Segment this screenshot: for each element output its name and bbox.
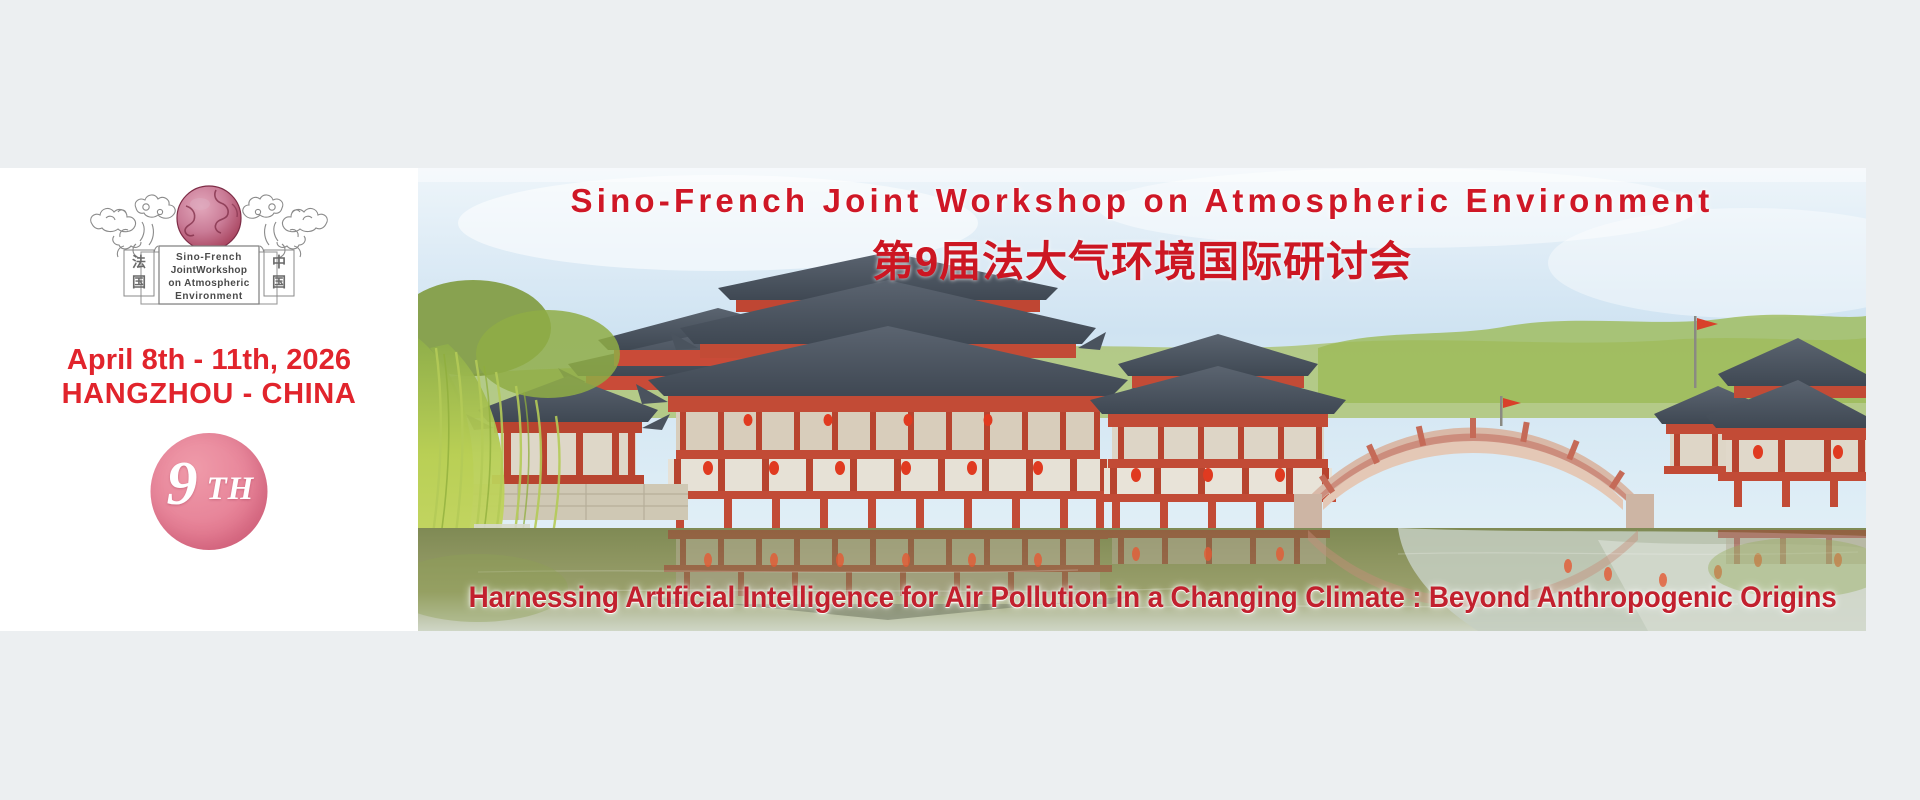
svg-text:法: 法 [132, 254, 146, 271]
edition-badge: 9 TH [151, 433, 268, 550]
svg-text:Environment: Environment [175, 291, 243, 302]
conference-dates: April 8th - 11th, 2026 HANGZHOU - CHINA [0, 343, 418, 411]
page-root: Sino-French JointWorkshop on Atmospheric… [0, 0, 1920, 800]
hero-text-overlay: Sino-French Joint Workshop on Atmospheri… [418, 168, 1866, 631]
location-line: HANGZHOU - CHINA [0, 377, 418, 411]
svg-text:on Atmospheric: on Atmospheric [168, 278, 249, 289]
identity-panel: Sino-French JointWorkshop on Atmospheric… [0, 168, 418, 631]
svg-text:中: 中 [272, 254, 286, 271]
dates-line: April 8th - 11th, 2026 [0, 343, 418, 377]
workshop-title-english: Sino-French Joint Workshop on Atmospheri… [418, 182, 1866, 220]
conference-banner: Sino-French JointWorkshop on Atmospheric… [0, 168, 1866, 631]
svg-text:JointWorkshop: JointWorkshop [171, 265, 248, 276]
edition-number: 9 [167, 453, 198, 515]
globe-icon [177, 186, 241, 250]
svg-text:国: 国 [132, 275, 146, 291]
svg-text:国: 国 [272, 275, 286, 291]
svg-text:Sino-French: Sino-French [176, 252, 242, 263]
workshop-title-chinese: 第9届法大气环境国际研讨会 [418, 228, 1866, 289]
workshop-tagline: Harnessing Artificial Intelligence for A… [469, 581, 1816, 615]
edition-ordinal: TH [207, 473, 255, 506]
conference-logo: Sino-French JointWorkshop on Atmospheric… [84, 174, 334, 312]
hero-photo: Sino-French Joint Workshop on Atmospheri… [418, 168, 1866, 631]
